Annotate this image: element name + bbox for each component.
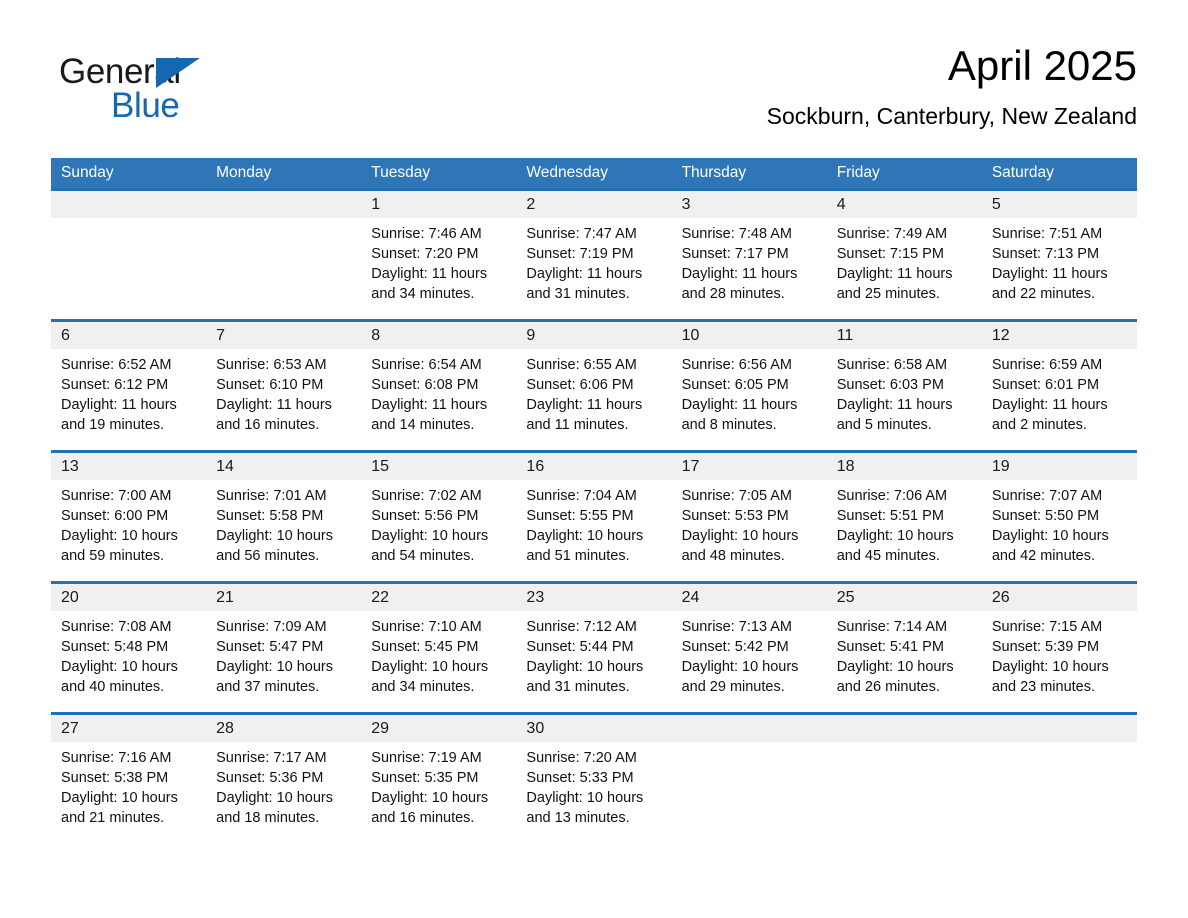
- day-cell-1[interactable]: 1Sunrise: 7:46 AMSunset: 7:20 PMDaylight…: [361, 191, 516, 319]
- sunrise-text: Sunrise: 7:07 AM: [992, 486, 1127, 506]
- daylight-text-line1: Daylight: 11 hours: [216, 395, 351, 415]
- sunrise-text: Sunrise: 6:55 AM: [526, 355, 661, 375]
- daylight-text-line1: Daylight: 10 hours: [216, 526, 351, 546]
- sunrise-text: Sunrise: 6:58 AM: [837, 355, 972, 375]
- day-number-band: 17: [672, 453, 827, 480]
- weekday-header-tuesday: Tuesday: [361, 158, 516, 188]
- weekday-header-friday: Friday: [827, 158, 982, 188]
- day-cell-9[interactable]: 9Sunrise: 6:55 AMSunset: 6:06 PMDaylight…: [516, 322, 671, 450]
- day-number: 24: [682, 589, 700, 606]
- day-number-band: 14: [206, 453, 361, 480]
- sunset-text: Sunset: 5:41 PM: [837, 637, 972, 657]
- day-number-band: 8: [361, 322, 516, 349]
- day-details: Sunrise: 7:47 AMSunset: 7:19 PMDaylight:…: [516, 218, 671, 319]
- day-details: Sunrise: 6:58 AMSunset: 6:03 PMDaylight:…: [827, 349, 982, 450]
- daylight-text-line1: Daylight: 10 hours: [682, 657, 817, 677]
- day-cell-16[interactable]: 16Sunrise: 7:04 AMSunset: 5:55 PMDayligh…: [516, 453, 671, 581]
- sunset-text: Sunset: 7:20 PM: [371, 244, 506, 264]
- sunset-text: Sunset: 7:19 PM: [526, 244, 661, 264]
- day-number-band: [982, 715, 1137, 742]
- day-number: 17: [682, 458, 700, 475]
- day-cell-empty: [51, 191, 206, 319]
- sunrise-text: Sunrise: 7:46 AM: [371, 224, 506, 244]
- daylight-text-line1: Daylight: 10 hours: [216, 657, 351, 677]
- sunrise-text: Sunrise: 7:47 AM: [526, 224, 661, 244]
- day-details: Sunrise: 7:48 AMSunset: 7:17 PMDaylight:…: [672, 218, 827, 319]
- week-cells: 27Sunrise: 7:16 AMSunset: 5:38 PMDayligh…: [51, 715, 1137, 843]
- day-cell-21[interactable]: 21Sunrise: 7:09 AMSunset: 5:47 PMDayligh…: [206, 584, 361, 712]
- sunset-text: Sunset: 6:01 PM: [992, 375, 1127, 395]
- day-number: 26: [992, 589, 1010, 606]
- day-cell-3[interactable]: 3Sunrise: 7:48 AMSunset: 7:17 PMDaylight…: [672, 191, 827, 319]
- day-details: Sunrise: 7:15 AMSunset: 5:39 PMDaylight:…: [982, 611, 1137, 712]
- daylight-text-line2: and 56 minutes.: [216, 546, 351, 566]
- day-details: Sunrise: 7:00 AMSunset: 6:00 PMDaylight:…: [51, 480, 206, 581]
- day-cell-15[interactable]: 15Sunrise: 7:02 AMSunset: 5:56 PMDayligh…: [361, 453, 516, 581]
- logo-text-blue: Blue: [111, 86, 179, 126]
- daylight-text-line1: Daylight: 10 hours: [526, 788, 661, 808]
- day-number-band: 22: [361, 584, 516, 611]
- day-number-band: 1: [361, 191, 516, 218]
- day-cell-10[interactable]: 10Sunrise: 6:56 AMSunset: 6:05 PMDayligh…: [672, 322, 827, 450]
- day-details: Sunrise: 7:49 AMSunset: 7:15 PMDaylight:…: [827, 218, 982, 319]
- day-number: 4: [837, 196, 846, 213]
- day-cell-14[interactable]: 14Sunrise: 7:01 AMSunset: 5:58 PMDayligh…: [206, 453, 361, 581]
- day-cell-7[interactable]: 7Sunrise: 6:53 AMSunset: 6:10 PMDaylight…: [206, 322, 361, 450]
- sunrise-text: Sunrise: 6:53 AM: [216, 355, 351, 375]
- daylight-text-line2: and 59 minutes.: [61, 546, 196, 566]
- daylight-text-line1: Daylight: 11 hours: [526, 395, 661, 415]
- day-details: Sunrise: 7:01 AMSunset: 5:58 PMDaylight:…: [206, 480, 361, 581]
- daylight-text-line1: Daylight: 11 hours: [526, 264, 661, 284]
- day-cell-29[interactable]: 29Sunrise: 7:19 AMSunset: 5:35 PMDayligh…: [361, 715, 516, 843]
- sunset-text: Sunset: 6:03 PM: [837, 375, 972, 395]
- daylight-text-line2: and 54 minutes.: [371, 546, 506, 566]
- calendar-week-row: 27Sunrise: 7:16 AMSunset: 5:38 PMDayligh…: [51, 712, 1137, 843]
- day-details: [51, 218, 206, 319]
- daylight-text-line2: and 37 minutes.: [216, 677, 351, 697]
- daylight-text-line2: and 31 minutes.: [526, 677, 661, 697]
- daylight-text-line1: Daylight: 11 hours: [992, 264, 1127, 284]
- sunset-text: Sunset: 7:15 PM: [837, 244, 972, 264]
- day-cell-6[interactable]: 6Sunrise: 6:52 AMSunset: 6:12 PMDaylight…: [51, 322, 206, 450]
- day-details: Sunrise: 7:09 AMSunset: 5:47 PMDaylight:…: [206, 611, 361, 712]
- day-cell-empty: [982, 715, 1137, 843]
- sunrise-text: Sunrise: 7:49 AM: [837, 224, 972, 244]
- day-number: 9: [526, 327, 535, 344]
- day-cell-4[interactable]: 4Sunrise: 7:49 AMSunset: 7:15 PMDaylight…: [827, 191, 982, 319]
- daylight-text-line2: and 51 minutes.: [526, 546, 661, 566]
- daylight-text-line2: and 31 minutes.: [526, 284, 661, 304]
- day-details: Sunrise: 6:53 AMSunset: 6:10 PMDaylight:…: [206, 349, 361, 450]
- page-header: General Blue April 2025 Sockburn, Canter…: [51, 40, 1137, 150]
- day-details: Sunrise: 7:08 AMSunset: 5:48 PMDaylight:…: [51, 611, 206, 712]
- daylight-text-line2: and 34 minutes.: [371, 284, 506, 304]
- sunrise-text: Sunrise: 7:06 AM: [837, 486, 972, 506]
- day-cell-5[interactable]: 5Sunrise: 7:51 AMSunset: 7:13 PMDaylight…: [982, 191, 1137, 319]
- day-number: 2: [526, 196, 535, 213]
- sunrise-text: Sunrise: 7:04 AM: [526, 486, 661, 506]
- day-number-band: [51, 191, 206, 218]
- day-number-band: 19: [982, 453, 1137, 480]
- sunset-text: Sunset: 5:55 PM: [526, 506, 661, 526]
- daylight-text-line1: Daylight: 11 hours: [837, 395, 972, 415]
- sunrise-text: Sunrise: 7:16 AM: [61, 748, 196, 768]
- day-cell-empty: [827, 715, 982, 843]
- sunrise-text: Sunrise: 7:13 AM: [682, 617, 817, 637]
- day-cell-17[interactable]: 17Sunrise: 7:05 AMSunset: 5:53 PMDayligh…: [672, 453, 827, 581]
- day-number: 13: [61, 458, 79, 475]
- daylight-text-line1: Daylight: 10 hours: [837, 526, 972, 546]
- day-cell-20[interactable]: 20Sunrise: 7:08 AMSunset: 5:48 PMDayligh…: [51, 584, 206, 712]
- sunset-text: Sunset: 7:17 PM: [682, 244, 817, 264]
- sunrise-text: Sunrise: 6:54 AM: [371, 355, 506, 375]
- day-number: 3: [682, 196, 691, 213]
- sunset-text: Sunset: 5:47 PM: [216, 637, 351, 657]
- weekday-header-sunday: Sunday: [51, 158, 206, 188]
- day-details: Sunrise: 7:46 AMSunset: 7:20 PMDaylight:…: [361, 218, 516, 319]
- sunset-text: Sunset: 6:06 PM: [526, 375, 661, 395]
- daylight-text-line2: and 16 minutes.: [216, 415, 351, 435]
- day-details: Sunrise: 7:12 AMSunset: 5:44 PMDaylight:…: [516, 611, 671, 712]
- day-details: Sunrise: 6:56 AMSunset: 6:05 PMDaylight:…: [672, 349, 827, 450]
- day-details: Sunrise: 7:13 AMSunset: 5:42 PMDaylight:…: [672, 611, 827, 712]
- daylight-text-line2: and 22 minutes.: [992, 284, 1127, 304]
- sunrise-text: Sunrise: 7:15 AM: [992, 617, 1127, 637]
- sunset-text: Sunset: 5:44 PM: [526, 637, 661, 657]
- day-number: 8: [371, 327, 380, 344]
- day-cell-8[interactable]: 8Sunrise: 6:54 AMSunset: 6:08 PMDaylight…: [361, 322, 516, 450]
- daylight-text-line1: Daylight: 11 hours: [992, 395, 1127, 415]
- day-number: 12: [992, 327, 1010, 344]
- day-details: Sunrise: 7:02 AMSunset: 5:56 PMDaylight:…: [361, 480, 516, 581]
- day-number-band: 30: [516, 715, 671, 742]
- day-details: [982, 742, 1137, 843]
- daylight-text-line1: Daylight: 10 hours: [61, 788, 196, 808]
- day-number-band: 5: [982, 191, 1137, 218]
- day-number-band: 11: [827, 322, 982, 349]
- day-cell-28[interactable]: 28Sunrise: 7:17 AMSunset: 5:36 PMDayligh…: [206, 715, 361, 843]
- day-cell-empty: [206, 191, 361, 319]
- sunset-text: Sunset: 5:42 PM: [682, 637, 817, 657]
- sunrise-text: Sunrise: 7:51 AM: [992, 224, 1127, 244]
- day-details: Sunrise: 7:17 AMSunset: 5:36 PMDaylight:…: [206, 742, 361, 843]
- triangle-flag-icon: [156, 58, 200, 88]
- daylight-text-line1: Daylight: 10 hours: [371, 788, 506, 808]
- day-number: 19: [992, 458, 1010, 475]
- sunrise-text: Sunrise: 7:01 AM: [216, 486, 351, 506]
- day-details: Sunrise: 6:59 AMSunset: 6:01 PMDaylight:…: [982, 349, 1137, 450]
- sunset-text: Sunset: 5:38 PM: [61, 768, 196, 788]
- sunset-text: Sunset: 6:08 PM: [371, 375, 506, 395]
- daylight-text-line2: and 21 minutes.: [61, 808, 196, 828]
- daylight-text-line1: Daylight: 11 hours: [682, 395, 817, 415]
- day-number-band: 6: [51, 322, 206, 349]
- day-details: Sunrise: 7:05 AMSunset: 5:53 PMDaylight:…: [672, 480, 827, 581]
- daylight-text-line1: Daylight: 10 hours: [992, 657, 1127, 677]
- day-cell-22[interactable]: 22Sunrise: 7:10 AMSunset: 5:45 PMDayligh…: [361, 584, 516, 712]
- sunrise-text: Sunrise: 6:52 AM: [61, 355, 196, 375]
- page-title: April 2025: [767, 40, 1137, 92]
- day-cell-23[interactable]: 23Sunrise: 7:12 AMSunset: 5:44 PMDayligh…: [516, 584, 671, 712]
- daylight-text-line2: and 8 minutes.: [682, 415, 817, 435]
- day-details: Sunrise: 7:10 AMSunset: 5:45 PMDaylight:…: [361, 611, 516, 712]
- day-number: 25: [837, 589, 855, 606]
- daylight-text-line2: and 14 minutes.: [371, 415, 506, 435]
- week-cells: 6Sunrise: 6:52 AMSunset: 6:12 PMDaylight…: [51, 322, 1137, 450]
- daylight-text-line1: Daylight: 11 hours: [837, 264, 972, 284]
- day-cell-30[interactable]: 30Sunrise: 7:20 AMSunset: 5:33 PMDayligh…: [516, 715, 671, 843]
- day-number-band: 28: [206, 715, 361, 742]
- day-details: Sunrise: 7:04 AMSunset: 5:55 PMDaylight:…: [516, 480, 671, 581]
- day-number: 10: [682, 327, 700, 344]
- day-number: 6: [61, 327, 70, 344]
- calendar-week-row: 20Sunrise: 7:08 AMSunset: 5:48 PMDayligh…: [51, 581, 1137, 712]
- daylight-text-line1: Daylight: 10 hours: [371, 657, 506, 677]
- calendar-table: SundayMondayTuesdayWednesdayThursdayFrid…: [51, 158, 1137, 843]
- day-number: 18: [837, 458, 855, 475]
- day-details: Sunrise: 6:55 AMSunset: 6:06 PMDaylight:…: [516, 349, 671, 450]
- day-cell-empty: [672, 715, 827, 843]
- day-number: 28: [216, 720, 234, 737]
- sunset-text: Sunset: 5:48 PM: [61, 637, 196, 657]
- daylight-text-line1: Daylight: 11 hours: [371, 264, 506, 284]
- sunset-text: Sunset: 6:05 PM: [682, 375, 817, 395]
- day-number: 16: [526, 458, 544, 475]
- sunrise-text: Sunrise: 7:14 AM: [837, 617, 972, 637]
- day-details: Sunrise: 7:51 AMSunset: 7:13 PMDaylight:…: [982, 218, 1137, 319]
- day-number: 1: [371, 196, 380, 213]
- daylight-text-line2: and 34 minutes.: [371, 677, 506, 697]
- sunrise-text: Sunrise: 7:00 AM: [61, 486, 196, 506]
- sunrise-text: Sunrise: 7:17 AM: [216, 748, 351, 768]
- calendar-body: 1Sunrise: 7:46 AMSunset: 7:20 PMDaylight…: [51, 188, 1137, 843]
- day-details: Sunrise: 7:19 AMSunset: 5:35 PMDaylight:…: [361, 742, 516, 843]
- calendar-week-row: 1Sunrise: 7:46 AMSunset: 7:20 PMDaylight…: [51, 188, 1137, 319]
- day-number-band: 20: [51, 584, 206, 611]
- daylight-text-line2: and 16 minutes.: [371, 808, 506, 828]
- sunrise-text: Sunrise: 7:05 AM: [682, 486, 817, 506]
- daylight-text-line2: and 11 minutes.: [526, 415, 661, 435]
- day-number: 21: [216, 589, 234, 606]
- day-cell-25[interactable]: 25Sunrise: 7:14 AMSunset: 5:41 PMDayligh…: [827, 584, 982, 712]
- daylight-text-line2: and 42 minutes.: [992, 546, 1127, 566]
- day-cell-19[interactable]: 19Sunrise: 7:07 AMSunset: 5:50 PMDayligh…: [982, 453, 1137, 581]
- calendar-week-row: 6Sunrise: 6:52 AMSunset: 6:12 PMDaylight…: [51, 319, 1137, 450]
- daylight-text-line1: Daylight: 10 hours: [992, 526, 1127, 546]
- weekday-header-saturday: Saturday: [982, 158, 1137, 188]
- day-number-band: 23: [516, 584, 671, 611]
- week-cells: 13Sunrise: 7:00 AMSunset: 6:00 PMDayligh…: [51, 453, 1137, 581]
- day-number-band: 7: [206, 322, 361, 349]
- day-number-band: 25: [827, 584, 982, 611]
- sunset-text: Sunset: 5:39 PM: [992, 637, 1127, 657]
- week-cells: 1Sunrise: 7:46 AMSunset: 7:20 PMDaylight…: [51, 191, 1137, 319]
- sunset-text: Sunset: 6:00 PM: [61, 506, 196, 526]
- daylight-text-line1: Daylight: 10 hours: [526, 657, 661, 677]
- day-details: Sunrise: 7:16 AMSunset: 5:38 PMDaylight:…: [51, 742, 206, 843]
- sunrise-text: Sunrise: 7:12 AM: [526, 617, 661, 637]
- sunrise-text: Sunrise: 6:56 AM: [682, 355, 817, 375]
- day-number-band: 21: [206, 584, 361, 611]
- day-details: [827, 742, 982, 843]
- weekday-header-thursday: Thursday: [672, 158, 827, 188]
- day-cell-26[interactable]: 26Sunrise: 7:15 AMSunset: 5:39 PMDayligh…: [982, 584, 1137, 712]
- day-number-band: 12: [982, 322, 1137, 349]
- day-number-band: 10: [672, 322, 827, 349]
- day-number: 11: [837, 327, 854, 344]
- title-block: April 2025 Sockburn, Canterbury, New Zea…: [767, 40, 1137, 130]
- day-number-band: 2: [516, 191, 671, 218]
- day-details: [672, 742, 827, 843]
- sunrise-text: Sunrise: 7:08 AM: [61, 617, 196, 637]
- day-number-band: 26: [982, 584, 1137, 611]
- sunset-text: Sunset: 5:33 PM: [526, 768, 661, 788]
- day-number-band: 29: [361, 715, 516, 742]
- daylight-text-line1: Daylight: 11 hours: [371, 395, 506, 415]
- daylight-text-line1: Daylight: 10 hours: [682, 526, 817, 546]
- calendar-page: General Blue April 2025 Sockburn, Canter…: [0, 0, 1188, 918]
- sunrise-text: Sunrise: 6:59 AM: [992, 355, 1127, 375]
- daylight-text-line1: Daylight: 10 hours: [837, 657, 972, 677]
- day-number: 23: [526, 589, 544, 606]
- sunrise-text: Sunrise: 7:02 AM: [371, 486, 506, 506]
- daylight-text-line1: Daylight: 10 hours: [61, 657, 196, 677]
- day-details: Sunrise: 6:52 AMSunset: 6:12 PMDaylight:…: [51, 349, 206, 450]
- daylight-text-line1: Daylight: 10 hours: [216, 788, 351, 808]
- daylight-text-line2: and 25 minutes.: [837, 284, 972, 304]
- sunset-text: Sunset: 6:12 PM: [61, 375, 196, 395]
- sunset-text: Sunset: 5:35 PM: [371, 768, 506, 788]
- day-details: [206, 218, 361, 319]
- day-number-band: 18: [827, 453, 982, 480]
- day-cell-2[interactable]: 2Sunrise: 7:47 AMSunset: 7:19 PMDaylight…: [516, 191, 671, 319]
- weekday-header-monday: Monday: [206, 158, 361, 188]
- day-number: 30: [526, 720, 544, 737]
- day-cell-12[interactable]: 12Sunrise: 6:59 AMSunset: 6:01 PMDayligh…: [982, 322, 1137, 450]
- day-number-band: 4: [827, 191, 982, 218]
- sunset-text: Sunset: 7:13 PM: [992, 244, 1127, 264]
- daylight-text-line2: and 48 minutes.: [682, 546, 817, 566]
- day-details: Sunrise: 7:06 AMSunset: 5:51 PMDaylight:…: [827, 480, 982, 581]
- daylight-text-line2: and 23 minutes.: [992, 677, 1127, 697]
- daylight-text-line1: Daylight: 10 hours: [61, 526, 196, 546]
- daylight-text-line2: and 2 minutes.: [992, 415, 1127, 435]
- daylight-text-line2: and 13 minutes.: [526, 808, 661, 828]
- day-number-band: [827, 715, 982, 742]
- day-details: Sunrise: 7:07 AMSunset: 5:50 PMDaylight:…: [982, 480, 1137, 581]
- day-number: 15: [371, 458, 389, 475]
- daylight-text-line1: Daylight: 11 hours: [61, 395, 196, 415]
- day-number-band: 27: [51, 715, 206, 742]
- daylight-text-line2: and 19 minutes.: [61, 415, 196, 435]
- sunset-text: Sunset: 5:36 PM: [216, 768, 351, 788]
- daylight-text-line2: and 18 minutes.: [216, 808, 351, 828]
- day-number-band: 16: [516, 453, 671, 480]
- sunrise-text: Sunrise: 7:20 AM: [526, 748, 661, 768]
- day-number-band: 9: [516, 322, 671, 349]
- day-cell-24[interactable]: 24Sunrise: 7:13 AMSunset: 5:42 PMDayligh…: [672, 584, 827, 712]
- day-number-band: [206, 191, 361, 218]
- day-cell-18[interactable]: 18Sunrise: 7:06 AMSunset: 5:51 PMDayligh…: [827, 453, 982, 581]
- day-number: 7: [216, 327, 225, 344]
- daylight-text-line2: and 45 minutes.: [837, 546, 972, 566]
- week-cells: 20Sunrise: 7:08 AMSunset: 5:48 PMDayligh…: [51, 584, 1137, 712]
- daylight-text-line2: and 5 minutes.: [837, 415, 972, 435]
- day-details: Sunrise: 6:54 AMSunset: 6:08 PMDaylight:…: [361, 349, 516, 450]
- general-blue-logo[interactable]: General Blue: [59, 52, 289, 132]
- daylight-text-line2: and 40 minutes.: [61, 677, 196, 697]
- weekday-header-wednesday: Wednesday: [516, 158, 671, 188]
- day-number: 14: [216, 458, 234, 475]
- sunrise-text: Sunrise: 7:48 AM: [682, 224, 817, 244]
- daylight-text-line1: Daylight: 10 hours: [526, 526, 661, 546]
- calendar-week-row: 13Sunrise: 7:00 AMSunset: 6:00 PMDayligh…: [51, 450, 1137, 581]
- daylight-text-line1: Daylight: 10 hours: [371, 526, 506, 546]
- sunset-text: Sunset: 6:10 PM: [216, 375, 351, 395]
- day-cell-13[interactable]: 13Sunrise: 7:00 AMSunset: 6:00 PMDayligh…: [51, 453, 206, 581]
- day-number: 29: [371, 720, 389, 737]
- sunset-text: Sunset: 5:45 PM: [371, 637, 506, 657]
- day-details: Sunrise: 7:20 AMSunset: 5:33 PMDaylight:…: [516, 742, 671, 843]
- day-number-band: 3: [672, 191, 827, 218]
- day-number: 5: [992, 196, 1001, 213]
- day-cell-11[interactable]: 11Sunrise: 6:58 AMSunset: 6:03 PMDayligh…: [827, 322, 982, 450]
- sunrise-text: Sunrise: 7:19 AM: [371, 748, 506, 768]
- daylight-text-line1: Daylight: 11 hours: [682, 264, 817, 284]
- day-details: Sunrise: 7:14 AMSunset: 5:41 PMDaylight:…: [827, 611, 982, 712]
- daylight-text-line2: and 28 minutes.: [682, 284, 817, 304]
- day-number: 22: [371, 589, 389, 606]
- sunset-text: Sunset: 5:53 PM: [682, 506, 817, 526]
- day-number-band: 15: [361, 453, 516, 480]
- sunrise-text: Sunrise: 7:10 AM: [371, 617, 506, 637]
- sunset-text: Sunset: 5:51 PM: [837, 506, 972, 526]
- day-cell-27[interactable]: 27Sunrise: 7:16 AMSunset: 5:38 PMDayligh…: [51, 715, 206, 843]
- sunrise-text: Sunrise: 7:09 AM: [216, 617, 351, 637]
- sunset-text: Sunset: 5:50 PM: [992, 506, 1127, 526]
- day-number: 27: [61, 720, 79, 737]
- sunset-text: Sunset: 5:58 PM: [216, 506, 351, 526]
- day-number-band: [672, 715, 827, 742]
- daylight-text-line2: and 29 minutes.: [682, 677, 817, 697]
- weekday-header-row: SundayMondayTuesdayWednesdayThursdayFrid…: [51, 158, 1137, 188]
- day-number: 20: [61, 589, 79, 606]
- daylight-text-line2: and 26 minutes.: [837, 677, 972, 697]
- day-number-band: 24: [672, 584, 827, 611]
- page-subtitle: Sockburn, Canterbury, New Zealand: [767, 102, 1137, 130]
- sunset-text: Sunset: 5:56 PM: [371, 506, 506, 526]
- day-number-band: 13: [51, 453, 206, 480]
